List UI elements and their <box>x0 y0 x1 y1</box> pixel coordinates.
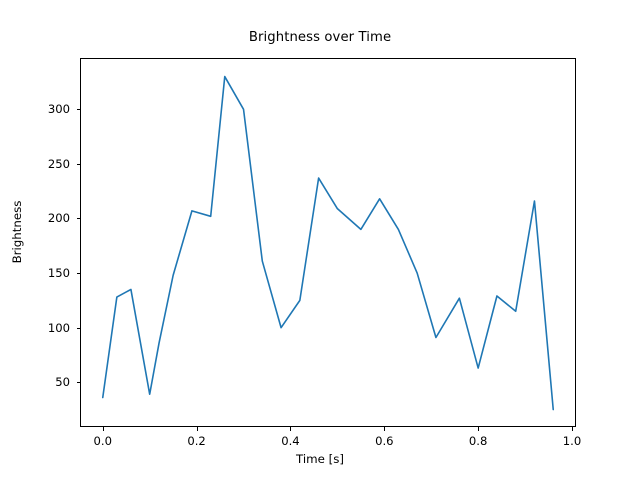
y-axis-tick-mark <box>77 164 81 165</box>
line-series-plot <box>80 58 576 427</box>
page-title: Brightness over Time <box>0 30 640 45</box>
y-axis-tick-mark <box>77 382 81 383</box>
data-line-brightness <box>103 77 553 410</box>
x-axis-tick-mark <box>197 427 198 431</box>
x-axis-tick-mark <box>572 427 573 431</box>
y-axis-tick-mark <box>77 218 81 219</box>
x-axis-tick-mark <box>478 427 479 431</box>
y-axis-tick-label: 50 <box>0 375 70 389</box>
x-axis-tick-mark <box>290 427 291 431</box>
x-axis-tick-label: 0.0 <box>94 434 112 448</box>
plot-axes <box>80 58 576 427</box>
x-axis-tick-label: 0.6 <box>375 434 393 448</box>
x-axis-label: Time [s] <box>0 452 640 466</box>
x-axis-tick-mark <box>103 427 104 431</box>
matplotlib-figure: Brightness over Time 501001502002503000.… <box>0 0 640 480</box>
x-axis-tick-label: 0.8 <box>469 434 487 448</box>
x-axis-tick-label: 1.0 <box>563 434 581 448</box>
y-axis-label: Brightness <box>10 112 24 352</box>
x-axis-tick-mark <box>384 427 385 431</box>
y-axis-tick-mark <box>77 328 81 329</box>
x-axis-tick-label: 0.4 <box>281 434 299 448</box>
y-axis-tick-mark <box>77 273 81 274</box>
y-axis-tick-mark <box>77 109 81 110</box>
x-axis-tick-label: 0.2 <box>187 434 205 448</box>
